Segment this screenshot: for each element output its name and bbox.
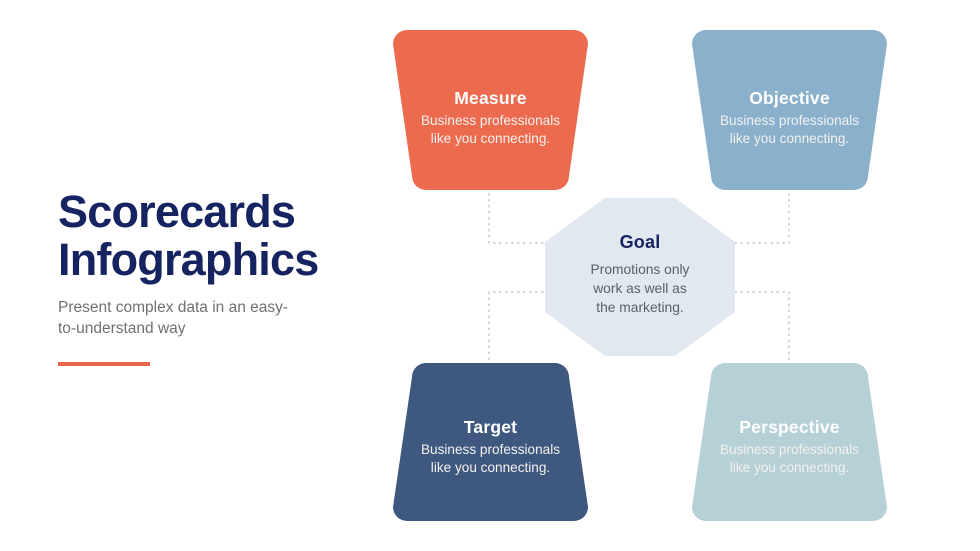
measure-text-block: Measure Business professionals like you … [393, 88, 588, 148]
objective-title: Objective [706, 88, 873, 109]
target-description: Business professionals like you connecti… [407, 441, 574, 477]
goal-title: Goal [559, 232, 721, 253]
node-measure[interactable]: Measure Business professionals like you … [393, 30, 588, 190]
measure-title: Measure [407, 88, 574, 109]
node-perspective[interactable]: Perspective Business professionals like … [692, 363, 887, 521]
node-target[interactable]: Target Business professionals like you c… [393, 363, 588, 521]
objective-text-block: Objective Business professionals like yo… [692, 88, 887, 148]
node-goal[interactable]: Goal Promotions only work as well as the… [545, 198, 735, 356]
target-text-block: Target Business professionals like you c… [393, 417, 588, 477]
goal-description: Promotions only work as well as the mark… [559, 260, 721, 317]
perspective-description: Business professionals like you connecti… [706, 441, 873, 477]
target-title: Target [407, 417, 574, 438]
perspective-text-block: Perspective Business professionals like … [692, 417, 887, 477]
measure-description: Business professionals like you connecti… [407, 112, 574, 148]
scorecard-diagram: Measure Business professionals like you … [0, 0, 980, 551]
objective-description: Business professionals like you connecti… [706, 112, 873, 148]
goal-text-block: Goal Promotions only work as well as the… [545, 232, 735, 317]
perspective-title: Perspective [706, 417, 873, 438]
node-objective[interactable]: Objective Business professionals like yo… [692, 30, 887, 190]
connector-perspective-goal [733, 292, 789, 365]
connector-objective-goal [733, 188, 789, 243]
connector-target-goal [489, 292, 548, 365]
slide-canvas: Scorecards Infographics Present complex … [0, 0, 980, 551]
connector-measure-goal [489, 188, 548, 243]
